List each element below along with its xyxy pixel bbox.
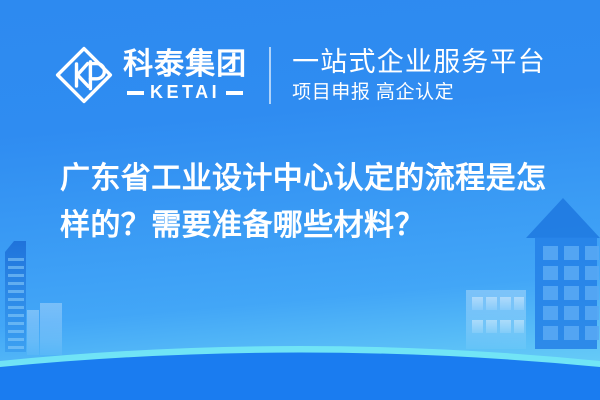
- slogan-block: 一站式企业服务平台 项目申报 高企认定: [292, 46, 546, 105]
- logo-english-row: KETAI: [127, 83, 243, 102]
- brand-logo[interactable]: 科泰集团 KETAI: [54, 45, 247, 105]
- banner-header: 科泰集团 KETAI 一站式企业服务平台 项目申报 高企认定: [0, 38, 600, 112]
- left-skyscraper: [5, 241, 26, 352]
- promo-banner: 科泰集团 KETAI 一站式企业服务平台 项目申报 高企认定 广东省工业设计中心…: [0, 0, 600, 400]
- logo-wordmark: 科泰集团 KETAI: [123, 49, 247, 102]
- dash-icon: [127, 91, 144, 95]
- ketai-diamond-kp-monogram-icon: [54, 45, 114, 105]
- right-mid-building: [466, 290, 526, 349]
- page-title: 广东省工业设计中心认定的流程是怎样的？需要准备哪些材料？: [60, 155, 552, 249]
- slogan-main: 一站式企业服务平台: [292, 46, 546, 78]
- vertical-divider-icon: [269, 47, 271, 104]
- slogan-sub: 项目申报 高企认定: [292, 81, 546, 105]
- logo-chinese-name: 科泰集团: [123, 49, 247, 80]
- wave-divider: [0, 346, 600, 400]
- left-small-building: [27, 303, 62, 355]
- dash-icon: [226, 91, 243, 95]
- logo-english-name: KETAI: [150, 83, 220, 102]
